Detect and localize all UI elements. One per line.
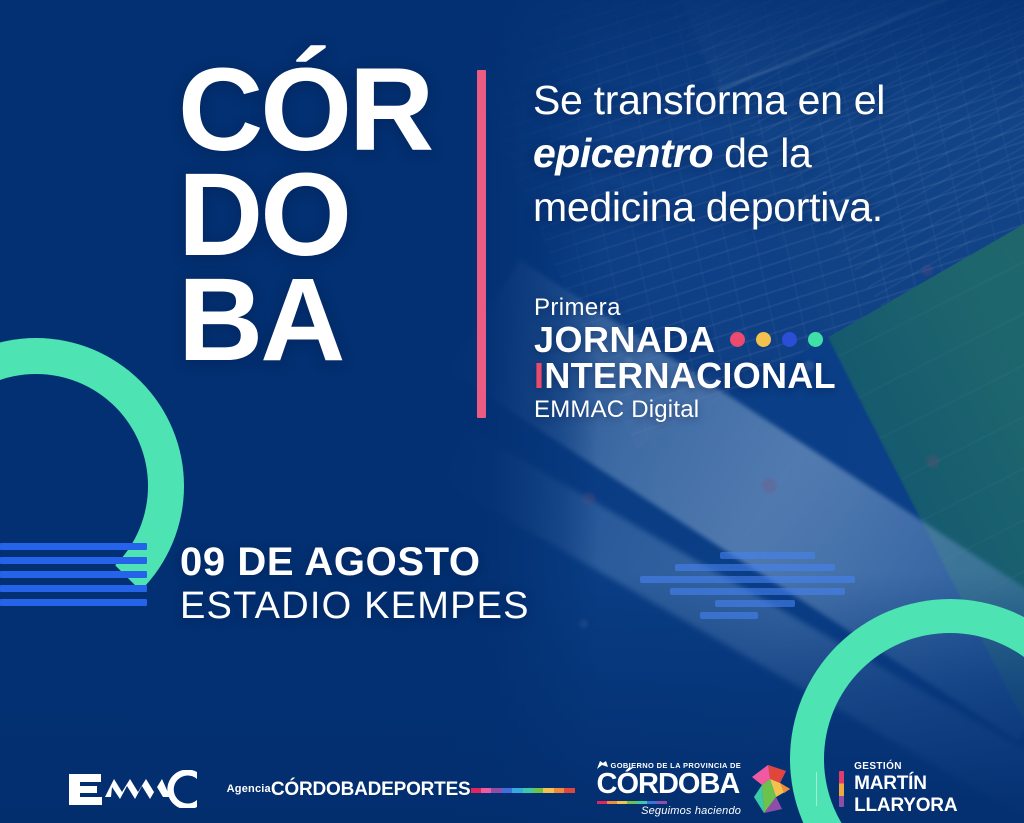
color-dot-yellow bbox=[756, 332, 771, 347]
gestion-line-1: GESTIÓN bbox=[854, 762, 957, 772]
event-subtitle: EMMAC Digital bbox=[534, 396, 836, 424]
event-color-dots bbox=[730, 332, 823, 349]
cordoba-wordmark-line-3: BA bbox=[178, 268, 431, 373]
gobierno-color-bar bbox=[597, 801, 667, 804]
headline-part-1: Se transforma en el bbox=[533, 77, 885, 123]
event-date: 09 DE AGOSTO bbox=[180, 540, 530, 584]
event-title-block: Primera JORNADA INTERNACIONAL EMMAC Digi… bbox=[534, 296, 836, 424]
blue-stripes-left-decoration bbox=[0, 543, 147, 607]
cordoba-wordmark-line-1: CÓR bbox=[178, 58, 431, 163]
pink-vertical-divider bbox=[477, 70, 486, 418]
color-dot-pink bbox=[730, 332, 745, 347]
cordoba-province-shape-icon bbox=[746, 763, 794, 815]
event-title-internacional-rest: NTERNACIONAL bbox=[544, 355, 836, 396]
poster-canvas: CÓR DO BA Se transforma en el epicentro … bbox=[0, 0, 1024, 823]
cordoba-wordmark: CÓR DO BA bbox=[178, 58, 431, 373]
logo-gobierno-cordoba: GOBIERNO DE LA PROVINCIA DE CÓRDOBA Segu… bbox=[597, 761, 795, 817]
logo-emmac: EMMAC bbox=[67, 770, 205, 808]
event-title-internacional-accent-letter: I bbox=[534, 355, 544, 396]
acd-line-2: CÓRDOBA bbox=[271, 780, 368, 799]
gestion-color-bar bbox=[839, 771, 844, 807]
blue-wave-bars-decoration bbox=[640, 552, 870, 632]
headline-text: Se transforma en el epicentro de la medi… bbox=[533, 74, 923, 234]
gobierno-text-column: GOBIERNO DE LA PROVINCIA DE CÓRDOBA Segu… bbox=[597, 761, 742, 817]
acd-color-bar bbox=[471, 788, 575, 793]
event-pre-label: Primera bbox=[534, 296, 836, 320]
emmac-logo-icon bbox=[67, 770, 205, 808]
event-title-internacional: INTERNACIONAL bbox=[534, 357, 836, 394]
headline-emphasis: epicentro bbox=[533, 130, 713, 176]
gobierno-tagline: Seguimos haciendo bbox=[597, 806, 742, 817]
acd-line-1: Agencia bbox=[227, 784, 271, 795]
event-title-jornada: JORNADA bbox=[534, 322, 716, 359]
color-dot-teal bbox=[808, 332, 823, 347]
event-title-row: JORNADA bbox=[534, 322, 836, 359]
logo-gestion-martin-llaryora: GESTIÓN MARTÍN LLARYORA bbox=[839, 762, 957, 816]
gobierno-line-2: CÓRDOBA bbox=[597, 771, 742, 799]
footer-logo-bar: EMMAC Agencia CÓRDOBA DEPORTES GOBIERNO bbox=[0, 761, 1024, 817]
gestion-text-column: GESTIÓN MARTÍN LLARYORA bbox=[854, 762, 957, 816]
event-venue: ESTADIO KEMPES bbox=[180, 585, 530, 629]
date-venue-block: 09 DE AGOSTO ESTADIO KEMPES bbox=[180, 540, 530, 629]
color-dot-blue bbox=[782, 332, 797, 347]
footer-separator bbox=[816, 772, 817, 806]
gestion-line-3: LLARYORA bbox=[854, 796, 957, 816]
logo-agencia-cordoba-deportes: Agencia CÓRDOBA DEPORTES bbox=[227, 779, 575, 799]
cordoba-wordmark-line-2: DO bbox=[178, 163, 431, 268]
acd-line-3: DEPORTES bbox=[368, 780, 471, 799]
gestion-line-2: MARTÍN bbox=[854, 774, 957, 794]
